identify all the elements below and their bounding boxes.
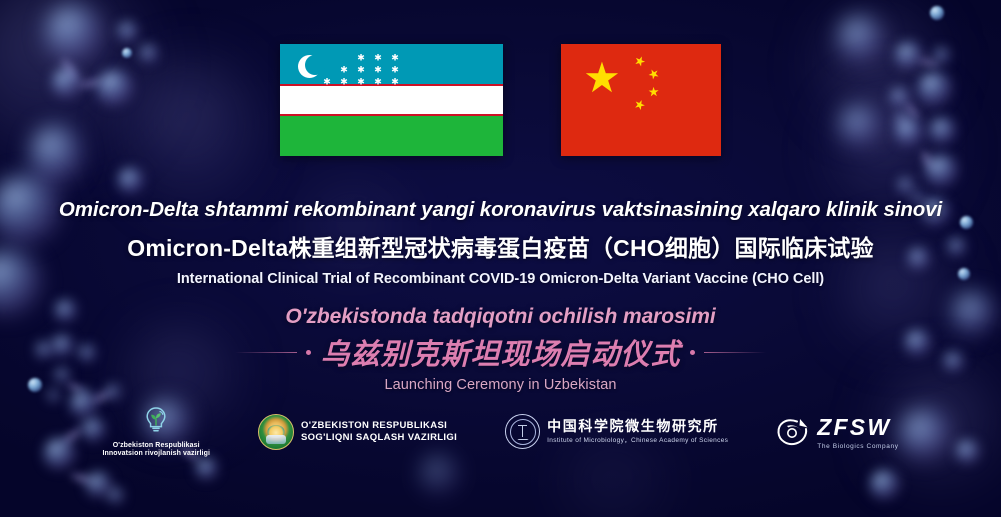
uzbekistan-emblem-icon <box>258 414 294 450</box>
title-block: Omicron-Delta shtammi rekombinant yangi … <box>0 198 1001 287</box>
uzbekistan-flag: ✱ ✱ ✱ ✱ ✱ ✱ ✱ ✱ ✱ ✱ ✱ ✱ <box>280 44 503 156</box>
ceremony-english: Launching Ceremony in Uzbekistan <box>0 377 1001 393</box>
ceremony-chinese: 乌兹别克斯坦现场启动仪式 <box>320 331 680 373</box>
logo-health-ministry: O'ZBEKISTON RESPUBLIKASI SOG'LIQNI SAQLA… <box>258 414 457 450</box>
zfsw-swoosh-icon <box>776 416 810 447</box>
large-star-icon: ★ <box>583 57 621 99</box>
decorative-rule-left <box>235 352 297 353</box>
logo-cas-institute: 中国科学院微生物研究所 Institute of Microbiology，Ch… <box>505 414 728 449</box>
logo-zfsw: ZFSW The Biologics Company <box>776 413 898 451</box>
logo-cas-line1: 中国科学院微生物研究所 <box>547 418 728 436</box>
title-uzbek: Omicron-Delta shtammi rekombinant yangi … <box>0 198 1001 222</box>
logo-innovation-line1: O'zbekiston Respublikasi <box>102 442 210 451</box>
cas-seal-icon <box>505 414 540 449</box>
logo-zfsw-line2: The Biologics Company <box>817 443 898 451</box>
logo-health-line1: O'ZBEKISTON RESPUBLIKASI <box>301 420 457 432</box>
lightbulb-plant-icon <box>141 405 171 440</box>
logo-cas-line2: Institute of Microbiology，Chinese Academ… <box>547 437 728 445</box>
logo-innovation-line2: Innovatsion rivojlanish vazirligi <box>102 450 210 459</box>
sponsor-logo-bar: O'zbekiston Respublikasi Innovatsion riv… <box>0 405 1001 460</box>
logo-innovation-ministry: O'zbekiston Respublikasi Innovatsion riv… <box>102 405 210 460</box>
ceremony-chinese-row: 乌兹别克斯坦现场启动仪式 <box>0 331 1001 373</box>
presentation-slide: ✱ ✱ ✱ ✱ ✱ ✱ ✱ ✱ ✱ ✱ ✱ ✱ ★ ★ ★ ★ ★ Omicro… <box>0 0 1001 517</box>
flag-row: ✱ ✱ ✱ ✱ ✱ ✱ ✱ ✱ ✱ ✱ ✱ ✱ ★ ★ ★ ★ ★ <box>0 44 1001 156</box>
logo-zfsw-line1: ZFSW <box>817 413 898 442</box>
title-chinese: Omicron-Delta株重组新型冠状病毒蛋白疫苗（CHO细胞）国际临床试验 <box>0 229 1001 263</box>
decorative-rule-right <box>704 352 766 353</box>
decorative-dot-right <box>690 350 695 355</box>
crescent-icon <box>298 55 321 78</box>
ceremony-uzbek: O'zbekistonda tadqiqotni ochilish marosi… <box>0 305 1001 329</box>
china-flag: ★ ★ ★ ★ ★ <box>561 44 721 156</box>
title-english: International Clinical Trial of Recombin… <box>0 271 1001 287</box>
ceremony-block: O'zbekistonda tadqiqotni ochilish marosi… <box>0 305 1001 393</box>
logo-health-line2: SOG'LIQNI SAQLASH VAZIRLIGI <box>301 432 457 444</box>
decorative-dot-left <box>306 350 311 355</box>
